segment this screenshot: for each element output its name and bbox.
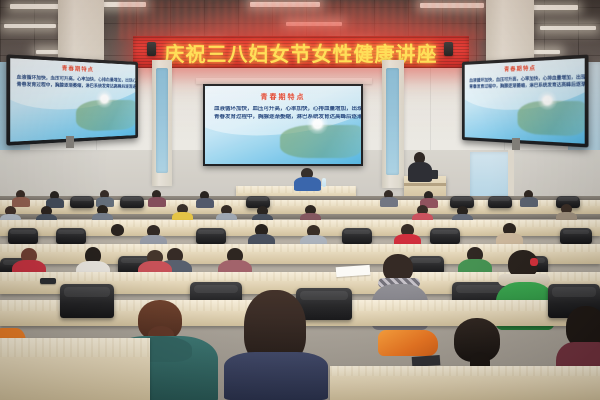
column-left-blue-panel [156,68,168,174]
chair[interactable] [342,228,372,244]
torso [408,162,432,182]
chair[interactable] [70,196,94,208]
slide-bullet: 青春发育过程中，胸腺逐渐萎缩，淋巴系统发育达高峰后逐渐退化。 [214,114,361,122]
column-right [382,60,404,188]
water-bottle [322,178,326,187]
ceiling-light [4,24,56,28]
column-right-blue-panel [386,68,399,176]
chair[interactable] [430,228,460,244]
led-banner: 庆祝三八妇女节女性健康讲座 [133,36,469,68]
tv-right: 青春期特点 血液循环加快，血压可升高，心率加快，心排血量增加，出现心悸、心慌及不… [462,54,589,147]
slide-content: 青春期特点 血液循环加快，血压可升高，心率加快，心排血量增加，出现心悸、心慌及不… [465,58,585,143]
wall-speaker-left [147,42,156,56]
column-far-left [58,0,104,64]
torso [224,352,328,400]
chair[interactable] [56,228,86,244]
column-left [152,60,172,186]
slide-dandelion-image [95,90,113,109]
slide-dandelion-image [537,89,558,110]
chair[interactable] [8,228,38,244]
chair[interactable] [60,284,114,318]
slide-bullet: 血液循环加快，血压可升高，心率加快，心排血量增加，出现心悸、心慌及不适感等。 [214,106,361,114]
tv-left-mount [66,136,74,148]
wall-speaker-right [444,42,453,56]
slide-content: 青春期特点 血液循环加快，血压可升高，心率加快，心排血量增加，出现心悸、心慌及不… [10,58,135,142]
column-far-right [486,0,534,64]
chair[interactable] [560,228,592,244]
desk-row-front [0,338,150,400]
chair[interactable] [196,228,226,244]
tv-left: 青春期特点 血液循环加快，血压可升高，心率加快，心排血量增加，出现心悸、心慌及不… [6,54,138,145]
chair[interactable] [488,196,512,208]
projection-screen: 青春期特点 血液循环加快，血压可升高，心率加快，心排血量增加，出现心悸、心慌及不… [203,84,363,166]
ceiling-light [540,26,596,30]
dark-phone-on-desk[interactable] [40,278,56,284]
chair[interactable] [120,196,144,208]
orange-jacket-on-desk [378,330,438,356]
tv-right-mount [512,138,520,150]
slide-content: 青春期特点 血液循环加快，血压可升高，心率加快，心排血量增加，出现心悸、心慌及不… [205,86,361,164]
hair-clip [530,258,538,266]
lecture-hall-photo: 庆祝三八妇女节女性健康讲座 青春期特点 血液循环加快，血压可升高，心率加快，心排… [0,0,600,400]
desk-row-front [330,366,600,400]
slide-body: 血液循环加快，血压可升高，心率加快，心排血量增加，出现心悸、心慌及不适感等。 青… [214,106,361,122]
slide-title: 青春期特点 [205,92,361,102]
slide-body: 血液循环加快，血压可升高，心率加快，心排血量增加，出现心悸、心慌及不适感等。 青… [17,74,136,90]
torso [294,177,321,191]
